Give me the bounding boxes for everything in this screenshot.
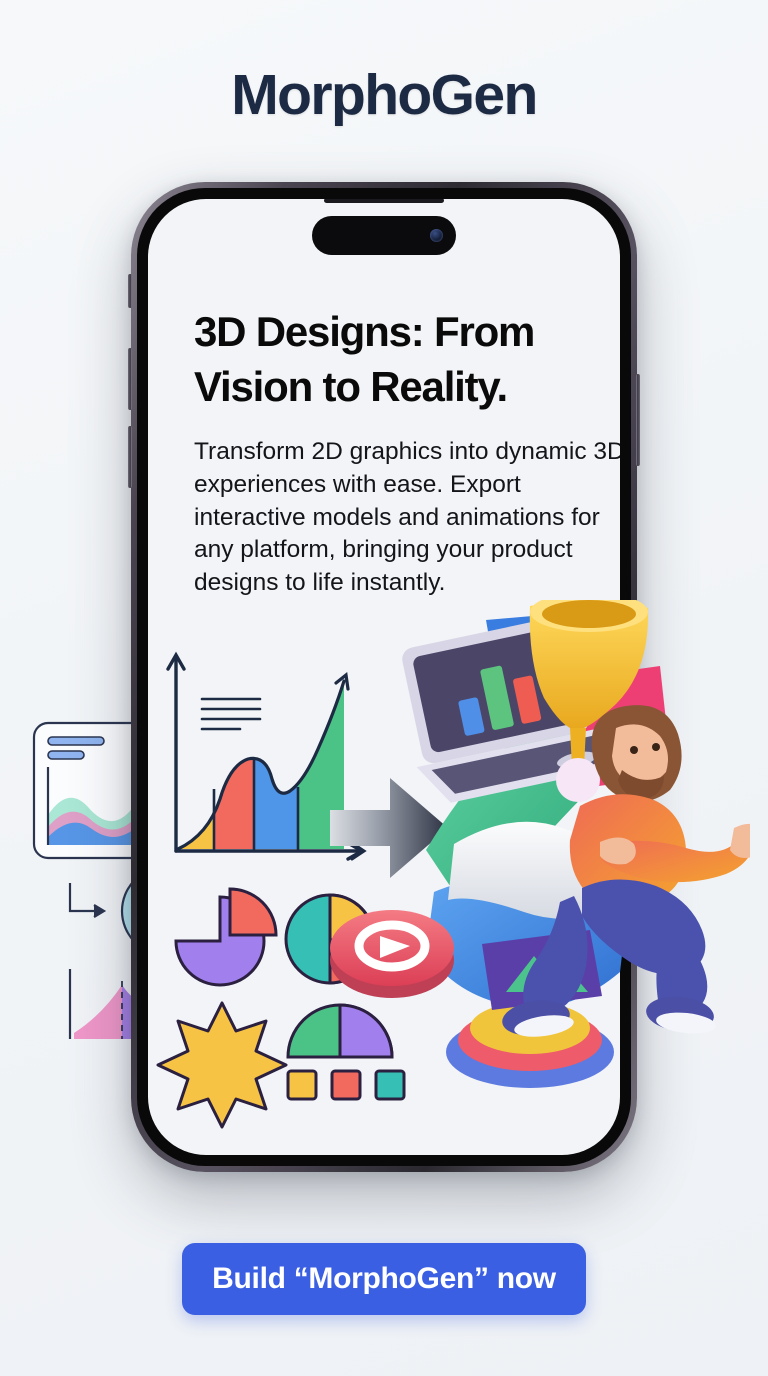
front-camera-icon	[430, 229, 443, 242]
build-now-button[interactable]: Build “MorphoGen” now	[182, 1243, 586, 1315]
background-elbow-arrow	[70, 883, 104, 917]
phone-screen: 3D Designs: From Vision to Reality. Tran…	[148, 199, 620, 1155]
body-paragraph: Transform 2D graphics into dynamic 3D ex…	[194, 436, 620, 600]
earpiece-speaker	[324, 199, 444, 203]
phone-power-button[interactable]	[636, 374, 640, 466]
phone-volume-down-button[interactable]	[128, 426, 132, 488]
illustration-area	[148, 639, 620, 1155]
flat-charts-svg	[148, 639, 620, 1155]
phone-bezel: 3D Designs: From Vision to Reality. Tran…	[137, 188, 631, 1166]
three-slice-pie-chart	[286, 895, 374, 983]
starburst-shape	[158, 1003, 286, 1127]
legend-swatches	[288, 1071, 404, 1099]
page-title: 3D Designs: From Vision to Reality.	[194, 305, 620, 414]
phone-volume-up-button[interactable]	[128, 348, 132, 410]
promo-page: MorphoGen	[0, 0, 768, 1376]
ascending-area-line-chart	[168, 655, 362, 859]
exploded-pie-chart	[176, 889, 276, 985]
phone-action-button[interactable]	[128, 274, 132, 308]
dynamic-island	[312, 216, 456, 255]
brand-logo: MorphoGen	[0, 62, 768, 128]
phone-mockup: 3D Designs: From Vision to Reality. Tran…	[131, 182, 637, 1172]
semicircle-gauge	[288, 1005, 392, 1057]
